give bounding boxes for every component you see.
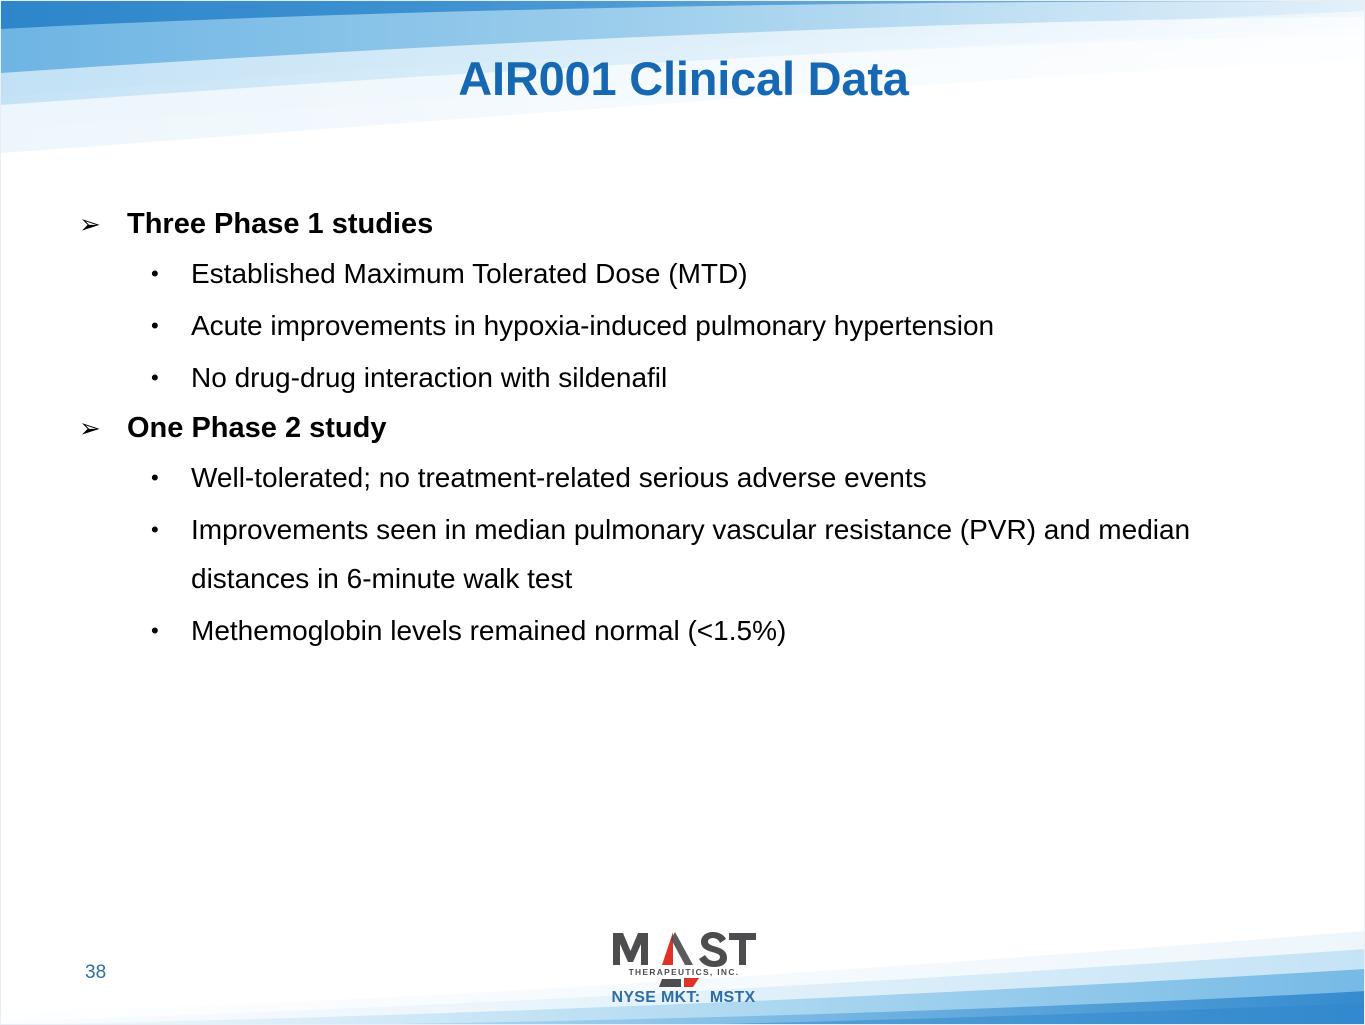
level1-bullet-row: ➢ One Phase 2 study — [73, 405, 1253, 451]
level2-bullet-text: Improvements seen in median pulmonary va… — [191, 505, 1221, 603]
logo-tagline: THERAPEUTICS, INC. — [628, 967, 739, 977]
bullet-section: ➢ Three Phase 1 studies • Established Ma… — [73, 201, 1253, 402]
level2-bullet-row: • Well-tolerated; no treatment-related s… — [73, 453, 1253, 502]
bullet-section: ➢ One Phase 2 study • Well-tolerated; no… — [73, 405, 1253, 655]
content-body: ➢ Three Phase 1 studies • Established Ma… — [73, 201, 1253, 658]
arrow-bullet-icon: ➢ — [73, 201, 127, 247]
dot-bullet-icon: • — [73, 249, 191, 298]
level2-bullet-text: Established Maximum Tolerated Dose (MTD) — [191, 249, 748, 298]
page-title: AIR001 Clinical Data — [458, 53, 909, 105]
dot-bullet-icon: • — [73, 301, 191, 350]
mast-logo-mark: THERAPEUTICS, INC. — [609, 929, 759, 987]
dot-bullet-icon: • — [73, 606, 191, 655]
level2-bullet-text: No drug-drug interaction with sildenafil — [191, 353, 667, 402]
title-area: AIR001 Clinical Data — [1, 53, 1365, 105]
company-logo: THERAPEUTICS, INC. NYSE MKT: MSTX — [1, 929, 1365, 1007]
level1-bullet-text: Three Phase 1 studies — [127, 201, 433, 247]
level1-bullet-text: One Phase 2 study — [127, 405, 387, 451]
arrow-bullet-icon: ➢ — [73, 405, 127, 451]
presentation-slide: AIR001 Clinical Data ➢ Three Phase 1 stu… — [0, 0, 1365, 1025]
level2-bullet-row: • Methemoglobin levels remained normal (… — [73, 606, 1253, 655]
level2-bullet-row: • Improvements seen in median pulmonary … — [73, 505, 1253, 603]
stock-ticker: NYSE MKT: MSTX — [609, 989, 759, 1007]
level2-bullet-row: • Established Maximum Tolerated Dose (MT… — [73, 249, 1253, 298]
level2-bullet-text: Well-tolerated; no treatment-related ser… — [191, 453, 927, 502]
dot-bullet-icon: • — [73, 505, 191, 554]
level2-bullet-row: • Acute improvements in hypoxia-induced … — [73, 301, 1253, 350]
level1-bullet-row: ➢ Three Phase 1 studies — [73, 201, 1253, 247]
mast-logo-svg: THERAPEUTICS, INC. — [609, 929, 759, 987]
level2-bullet-row: • No drug-drug interaction with sildenaf… — [73, 353, 1253, 402]
dot-bullet-icon: • — [73, 453, 191, 502]
level2-bullet-text: Acute improvements in hypoxia-induced pu… — [191, 301, 994, 350]
level2-bullet-text: Methemoglobin levels remained normal (<1… — [191, 606, 786, 655]
dot-bullet-icon: • — [73, 353, 191, 402]
